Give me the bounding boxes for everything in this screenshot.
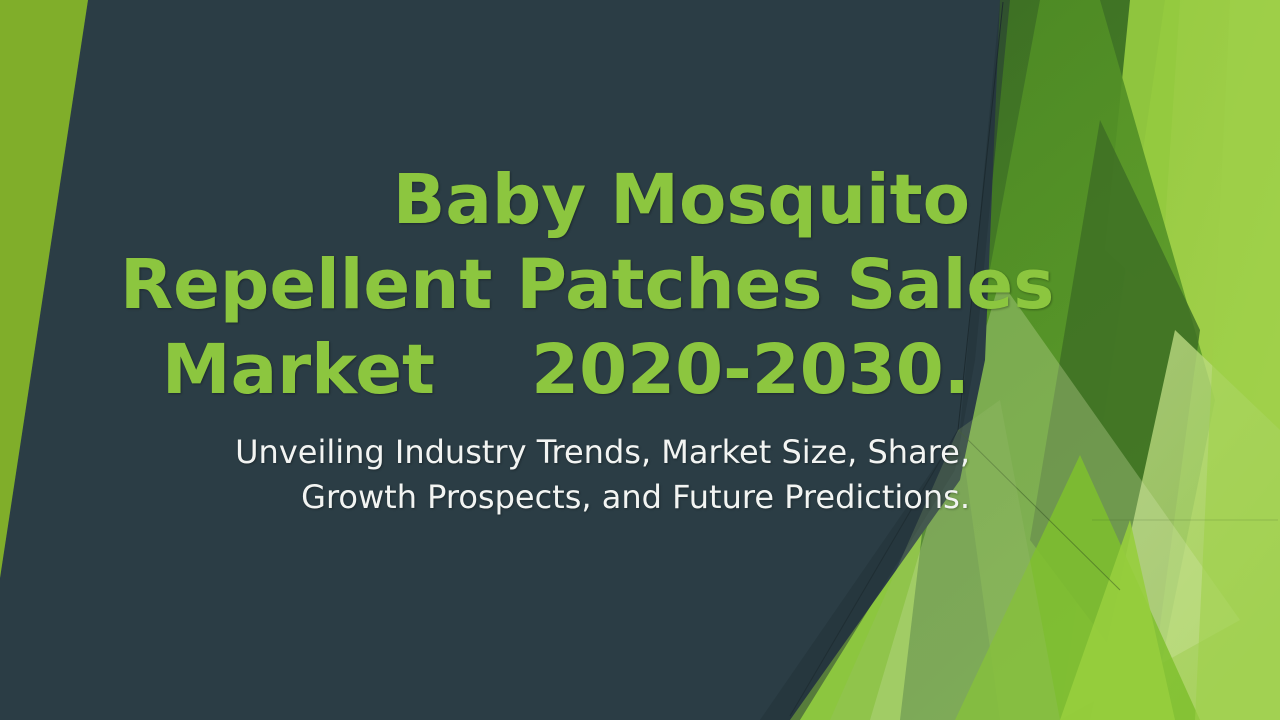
slide-title: Baby Mosquito Repellent Patches Sales Ma… <box>120 158 970 413</box>
subtitle-line-2: Growth Prospects, and Future Predictions… <box>140 475 970 520</box>
title-slide: Baby Mosquito Repellent Patches Sales Ma… <box>0 0 1280 720</box>
title-line-2: Repellent Patches Sales <box>120 243 970 328</box>
title-line-1: Baby Mosquito <box>120 158 970 243</box>
slide-subtitle: Unveiling Industry Trends, Market Size, … <box>140 430 970 520</box>
title-line-3: Market 2020-2030. <box>120 328 970 413</box>
subtitle-line-1: Unveiling Industry Trends, Market Size, … <box>140 430 970 475</box>
